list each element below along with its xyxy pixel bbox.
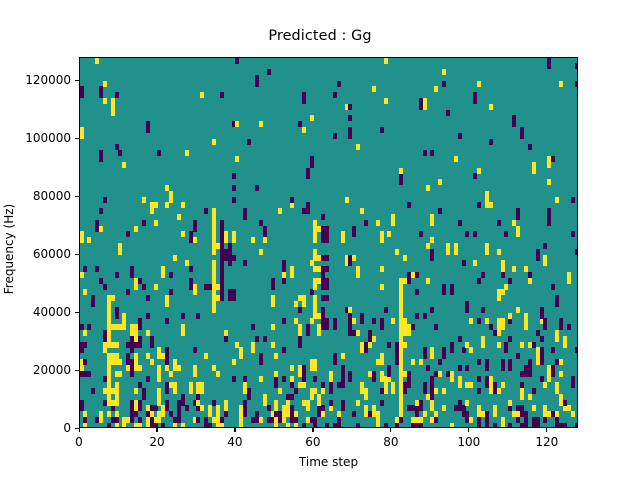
x-axis-label: Time step [79, 455, 578, 469]
x-tick-mark [546, 428, 547, 432]
y-tick-mark [75, 80, 79, 81]
y-tick-label: 120000 [0, 73, 71, 87]
x-tick-label: 120 [535, 435, 558, 449]
spectrogram-heatmap[interactable] [80, 58, 578, 428]
x-tick-label: 0 [75, 435, 83, 449]
y-tick-mark [75, 254, 79, 255]
y-tick-mark [75, 196, 79, 197]
figure-canvas: Predicted : Gg 0200004000060000800001000… [0, 0, 640, 480]
y-tick-label: 100000 [0, 131, 71, 145]
x-tick-label: 40 [227, 435, 242, 449]
x-tick-mark [156, 428, 157, 432]
y-tick-mark [75, 370, 79, 371]
x-tick-label: 80 [383, 435, 398, 449]
x-tick-mark [390, 428, 391, 432]
x-tick-mark [79, 428, 80, 432]
y-tick-mark [75, 138, 79, 139]
x-tick-mark [312, 428, 313, 432]
x-tick-label: 60 [305, 435, 320, 449]
y-tick-mark [75, 312, 79, 313]
x-tick-label: 20 [149, 435, 164, 449]
x-tick-mark [468, 428, 469, 432]
y-tick-label: 0 [0, 421, 71, 435]
x-tick-mark [234, 428, 235, 432]
heatmap-plot-area[interactable] [79, 57, 578, 428]
y-axis-label: Frequency (Hz) [2, 189, 16, 309]
x-tick-label: 100 [457, 435, 480, 449]
page-title: Predicted : Gg [0, 28, 640, 44]
y-tick-label: 20000 [0, 363, 71, 377]
